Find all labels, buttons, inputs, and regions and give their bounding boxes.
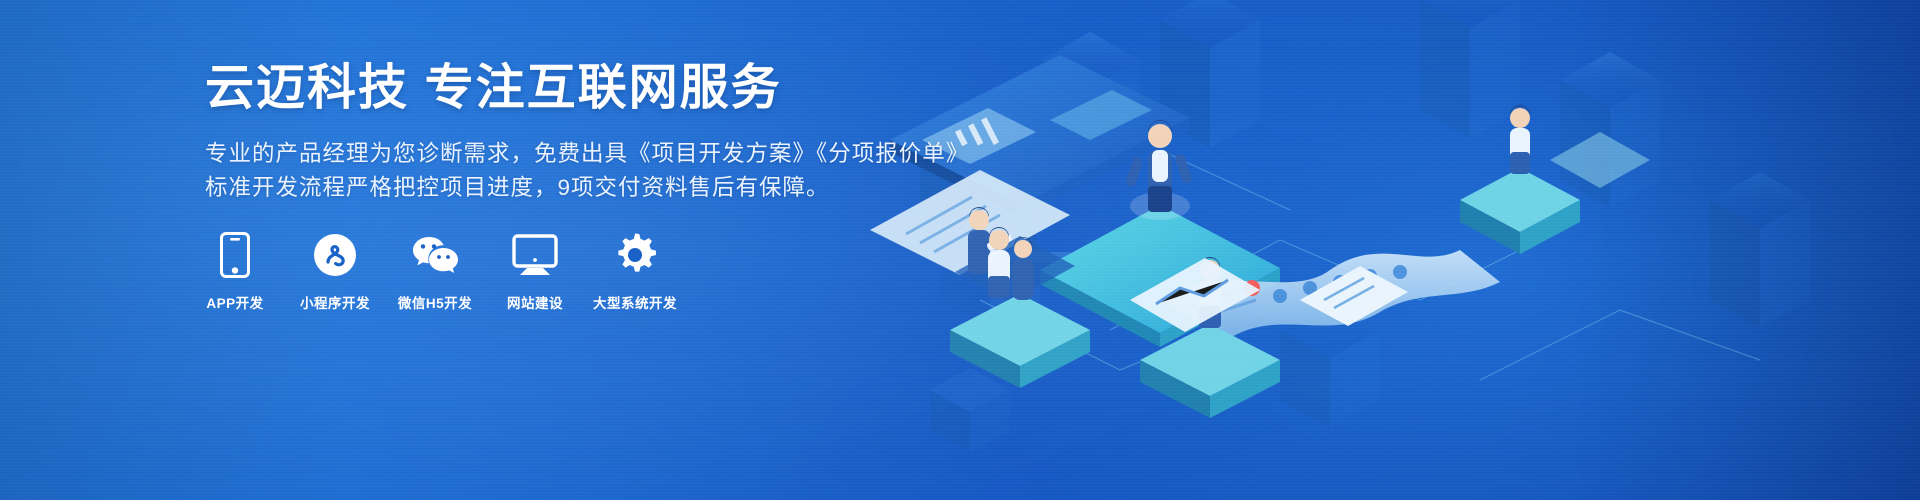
service-label: APP开发 <box>206 292 263 312</box>
hero-subtitle: 专业的产品经理为您诊断需求，免费出具《项目开发方案》《分项报价单》 标准开发流程… <box>205 137 905 205</box>
service-label: 网站建设 <box>507 292 563 312</box>
illustration-isometric-team <box>860 0 1920 500</box>
wechat-icon <box>411 232 459 278</box>
mini-program-icon <box>313 232 357 278</box>
service-item-miniprogram[interactable]: 小程序开发 <box>305 232 365 312</box>
person-right-upper <box>1510 105 1530 174</box>
service-label: 微信H5开发 <box>398 292 472 312</box>
subtitle-line-1: 专业的产品经理为您诊断需求，免费出具《项目开发方案》《分项报价单》 <box>205 137 905 171</box>
subtitle-line-2: 标准开发流程严格把控项目进度，9项交付资料售后有保障。 <box>205 171 905 205</box>
service-item-website[interactable]: 网站建设 <box>505 232 565 312</box>
gear-icon <box>613 232 657 278</box>
service-label: 大型系统开发 <box>593 292 677 312</box>
monitor-icon <box>512 232 558 278</box>
page-title: 云迈科技 专注互联网服务 <box>205 62 905 115</box>
service-item-large-system[interactable]: 大型系统开发 <box>605 232 665 312</box>
service-item-app[interactable]: APP开发 <box>205 232 265 312</box>
service-label: 小程序开发 <box>300 292 370 312</box>
mobile-phone-icon <box>220 232 250 278</box>
service-list: APP开发 小程序开发 微信 <box>205 232 665 312</box>
hero-banner: 云迈科技 专注互联网服务 专业的产品经理为您诊断需求，免费出具《项目开发方案》《… <box>0 0 1920 500</box>
service-item-wechat-h5[interactable]: 微信H5开发 <box>405 232 465 312</box>
hero-copy: 云迈科技 专注互联网服务 专业的产品经理为您诊断需求，免费出具《项目开发方案》《… <box>205 62 905 205</box>
